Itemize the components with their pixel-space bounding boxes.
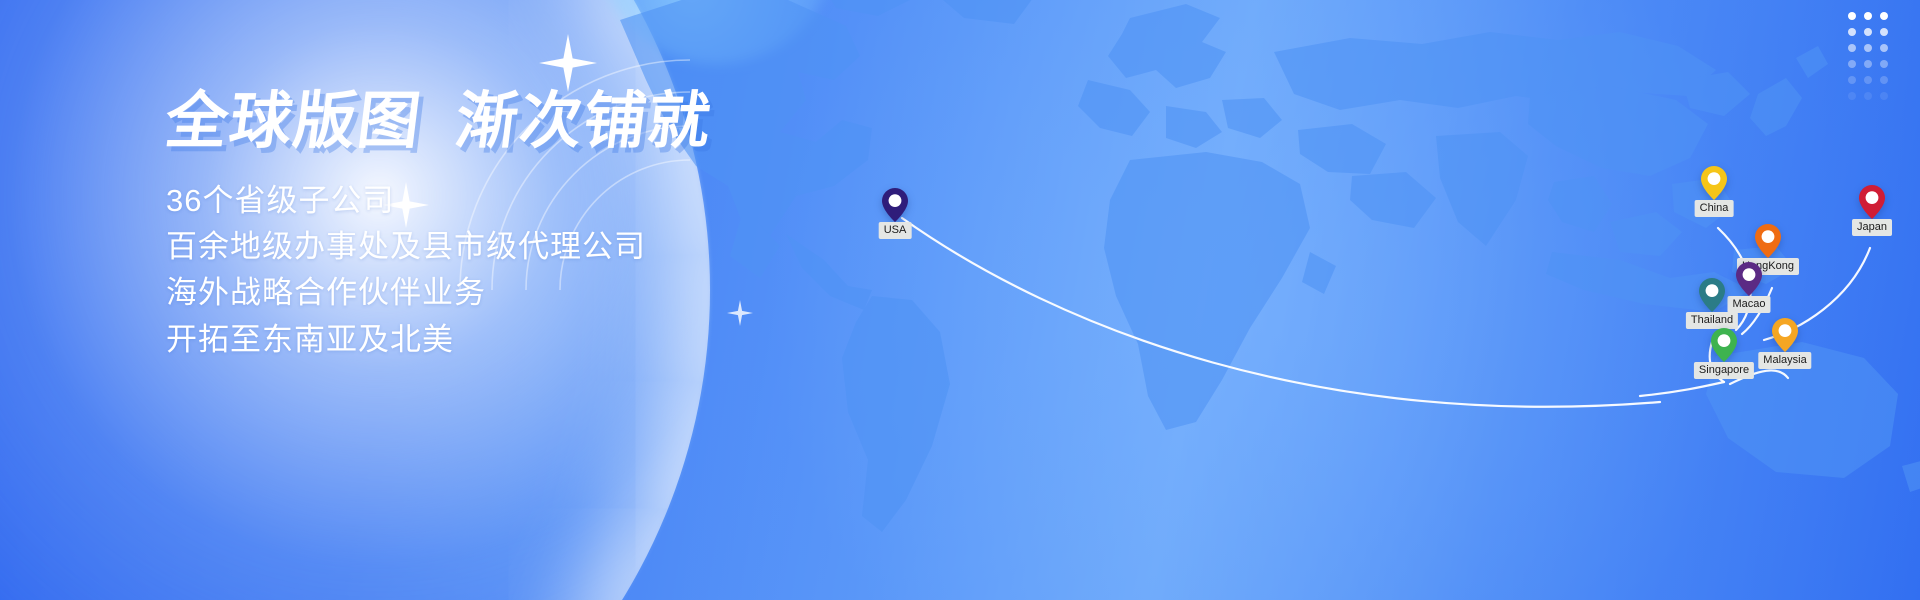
map-pin-icon (1711, 328, 1737, 362)
copy-block: 全球版图渐次铺就 36个省级子公司 百余地级办事处及县市级代理公司 海外战略合作… (166, 90, 926, 363)
map-marker-malaysia[interactable]: Malaysia (1772, 318, 1798, 352)
list-item: 36个省级子公司 (166, 178, 926, 224)
global-footprint-banner: 全球版图渐次铺就 36个省级子公司 百余地级办事处及县市级代理公司 海外战略合作… (0, 0, 1920, 600)
map-marker-japan[interactable]: Japan (1859, 185, 1885, 219)
dot-grid-decoration (1844, 8, 1892, 104)
map-pin-icon (1755, 224, 1781, 258)
highlight-list: 36个省级子公司 百余地级办事处及县市级代理公司 海外战略合作伙伴业务 开拓至东… (166, 178, 926, 363)
map-pin-icon (1701, 166, 1727, 200)
list-item: 百余地级办事处及县市级代理公司 (166, 224, 926, 270)
page-title: 全球版图渐次铺就 (162, 90, 930, 152)
map-marker-label: Japan (1852, 219, 1892, 236)
headline-part-1: 全球版图 (162, 84, 427, 157)
headline-part-2: 渐次铺就 (452, 84, 717, 157)
map-pin-icon (882, 188, 908, 222)
map-marker-label: Singapore (1694, 362, 1754, 379)
map-marker-usa[interactable]: USA (882, 188, 908, 222)
map-pin-icon (1736, 262, 1762, 296)
map-marker-label: China (1695, 200, 1734, 217)
map-marker-label: Thailand (1686, 312, 1738, 329)
map-marker-hongkong[interactable]: HongKong (1755, 224, 1781, 258)
list-item: 海外战略合作伙伴业务 (166, 270, 926, 316)
map-pin-icon (1772, 318, 1798, 352)
map-marker-macao[interactable]: Macao (1736, 262, 1762, 296)
map-marker-label: Malaysia (1758, 352, 1811, 369)
list-item: 开拓至东南亚及北美 (166, 317, 926, 363)
map-marker-china[interactable]: China (1701, 166, 1727, 200)
map-marker-thailand[interactable]: Thailand (1699, 278, 1725, 312)
map-marker-label: USA (879, 222, 912, 239)
map-pin-icon (1699, 278, 1725, 312)
map-marker-singapore[interactable]: Singapore (1711, 328, 1737, 362)
map-marker-label: Macao (1727, 296, 1770, 313)
map-pin-icon (1859, 185, 1885, 219)
